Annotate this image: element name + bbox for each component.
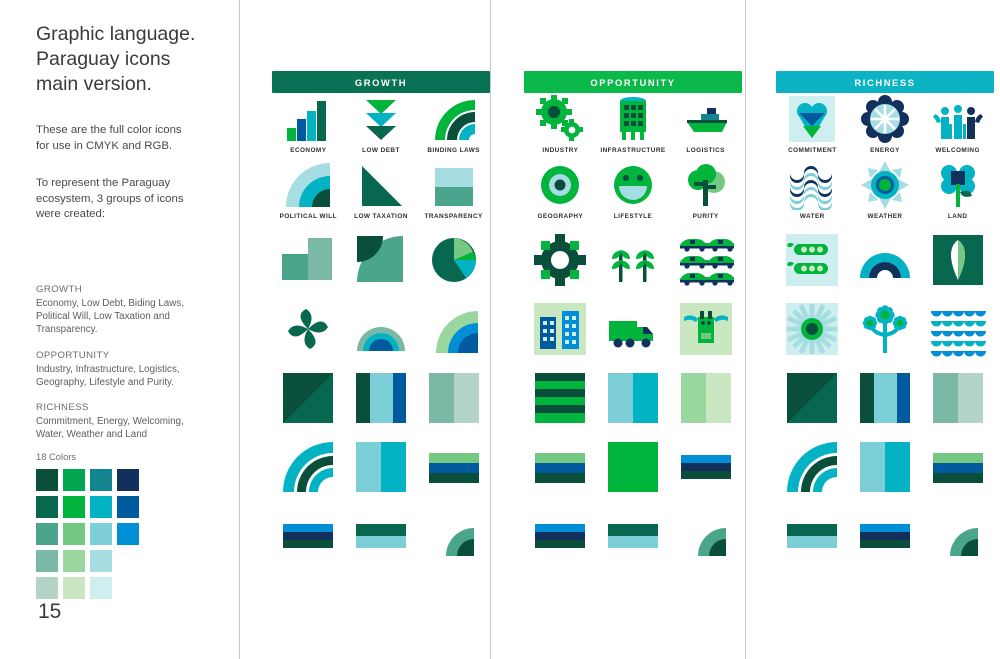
pattern-rainbow-arch[interactable] [849, 225, 922, 294]
column-divider-1 [239, 0, 240, 659]
pattern-quarter-arc-bands[interactable] [417, 294, 490, 363]
icon-label: LOW TAXATION [354, 213, 408, 220]
economy-icon [272, 93, 345, 145]
icon-cell-industry[interactable]: INDUSTRY [524, 93, 597, 159]
weather-icon [849, 159, 922, 211]
group-heading: OPPORTUNITY [36, 350, 231, 361]
icon-cell-lifestyle[interactable]: LIFESTYLE [597, 159, 670, 225]
pattern-striped-square[interactable] [524, 363, 597, 432]
pattern-light-square[interactable] [669, 363, 742, 432]
swatch-row [36, 550, 186, 572]
pattern-square-diagonal[interactable] [776, 363, 849, 432]
icon-grid-opportunity: INDUSTRYINFRASTRUCTURELOGISTICSGEOGRAPHY… [524, 93, 742, 225]
pattern-cow[interactable] [669, 294, 742, 363]
pattern-scale-waves[interactable] [921, 294, 994, 363]
column-divider-2 [490, 0, 491, 659]
welcoming-icon [921, 93, 994, 145]
color-swatch[interactable] [90, 577, 112, 599]
group-body: Economy, Low Debt, Biding Laws, Politica… [36, 297, 231, 337]
pattern-grid-growth [272, 225, 490, 570]
icon-label: POLITICAL WILL [280, 213, 337, 220]
pattern-banded-rect[interactable] [272, 501, 345, 570]
column-header-growth: GROWTH [272, 71, 490, 93]
pattern-pea-pods[interactable] [776, 225, 849, 294]
icon-label: PURITY [693, 213, 719, 220]
icon-label: BINDING LAWS [427, 147, 480, 154]
icon-cell-logistics[interactable]: LOGISTICS [669, 93, 742, 159]
color-swatch[interactable] [36, 550, 58, 572]
pattern-grid-opportunity [524, 225, 742, 570]
color-swatch[interactable] [117, 469, 139, 491]
infrastructure-icon [597, 93, 670, 145]
icon-label: TRANSPARENCY [425, 213, 483, 220]
column-growth: GROWTH ECONOMYLOW DEBTBINDING LAWSPOLITI… [272, 0, 490, 570]
pattern-banded-rect[interactable] [524, 501, 597, 570]
icon-label: LAND [948, 213, 968, 220]
color-swatch[interactable] [36, 523, 58, 545]
color-swatch[interactable] [90, 469, 112, 491]
column-richness: RICHNESS COMMITMENTENERGYWELCOMINGWATERW… [776, 0, 994, 570]
icon-grid-growth: ECONOMYLOW DEBTBINDING LAWSPOLITICAL WIL… [272, 93, 490, 225]
water-icon [776, 159, 849, 211]
pattern-horizontal-bands[interactable] [524, 432, 597, 501]
swatch-grid [36, 469, 186, 599]
icon-grid-richness: COMMITMENTENERGYWELCOMINGWATERWEATHERLAN… [776, 93, 994, 225]
icon-label: LOW DEBT [362, 147, 400, 154]
color-swatch[interactable] [90, 523, 112, 545]
pattern-quarter-arc-outline[interactable] [776, 432, 849, 501]
icon-label: GEOGRAPHY [538, 213, 584, 220]
icon-cell-economy[interactable]: ECONOMY [272, 93, 345, 159]
icon-cell-infrastructure[interactable]: INFRASTRUCTURE [597, 93, 670, 159]
icon-label: INDUSTRY [542, 147, 578, 154]
color-swatch[interactable] [63, 496, 85, 518]
pattern-split-square[interactable] [345, 432, 418, 501]
group-body: Industry, Infrastructure, Logistics, Geo… [36, 363, 231, 389]
color-swatch[interactable] [36, 496, 58, 518]
pattern-leaf[interactable] [921, 225, 994, 294]
color-swatch[interactable] [63, 523, 85, 545]
low-debt-icon [345, 93, 418, 145]
group-heading: RICHNESS [36, 402, 231, 413]
pattern-truck[interactable] [597, 294, 670, 363]
pattern-two-tone-rect[interactable] [597, 501, 670, 570]
pattern-sunburst[interactable] [776, 294, 849, 363]
palette-title: 18 Colors [36, 451, 186, 462]
icon-cell-transparency[interactable]: TRANSPARENCY [417, 159, 490, 225]
swatch-row [36, 496, 186, 518]
pattern-cars[interactable] [669, 225, 742, 294]
lifestyle-icon [597, 159, 670, 211]
group-body: Commitment, Energy, Welcoming, Water, We… [36, 415, 231, 441]
pattern-pie-chart[interactable] [417, 225, 490, 294]
pattern-gear[interactable] [524, 225, 597, 294]
geography-icon [524, 159, 597, 211]
column-header-richness: RICHNESS [776, 71, 994, 93]
pattern-banded-rect-light[interactable] [776, 501, 849, 570]
low-taxation-icon [345, 159, 418, 211]
purity-icon [669, 159, 742, 211]
color-swatch[interactable] [117, 523, 139, 545]
icon-label: COMMITMENT [788, 147, 837, 154]
icon-cell-commitment[interactable]: COMMITMENT [776, 93, 849, 159]
icon-cell-energy[interactable]: ENERGY [849, 93, 922, 159]
pattern-two-tone-square[interactable] [921, 363, 994, 432]
pattern-banded-rect[interactable] [849, 501, 922, 570]
icon-label: WATER [800, 213, 825, 220]
land-icon [921, 159, 994, 211]
color-swatch[interactable] [63, 469, 85, 491]
color-swatch[interactable] [36, 469, 58, 491]
pattern-wheat[interactable] [597, 225, 670, 294]
swatch-row [36, 523, 186, 545]
icon-cell-land[interactable]: LAND [921, 159, 994, 225]
pattern-flowers[interactable] [849, 294, 922, 363]
pattern-split-square[interactable] [849, 432, 922, 501]
intro-paragraph-2: To represent the Paraguay ecosystem, 3 g… [36, 176, 226, 223]
binding-laws-icon [417, 93, 490, 145]
icon-cell-low-debt[interactable]: LOW DEBT [345, 93, 418, 159]
color-palette: 18 Colors [36, 451, 186, 604]
icon-cell-weather[interactable]: WEATHER [849, 159, 922, 225]
color-swatch[interactable] [90, 496, 112, 518]
icon-label: LIFESTYLE [614, 213, 653, 220]
pattern-banded-rect[interactable] [669, 432, 742, 501]
icon-cell-welcoming[interactable]: WELCOMING [921, 93, 994, 159]
icon-label: ENERGY [870, 147, 900, 154]
pattern-small-quarter-arc[interactable] [921, 501, 994, 570]
logistics-icon [669, 93, 742, 145]
transparency-icon [417, 159, 490, 211]
pattern-two-tone-square[interactable] [417, 363, 490, 432]
icon-label: INFRASTRUCTURE [600, 147, 665, 154]
pattern-vertical-stripes[interactable] [345, 363, 418, 432]
pattern-arch-nested[interactable] [345, 294, 418, 363]
icon-label: WELCOMING [935, 147, 980, 154]
swatch-row [36, 469, 186, 491]
pattern-vertical-stripes[interactable] [849, 363, 922, 432]
pattern-small-quarter-arc[interactable] [669, 501, 742, 570]
energy-icon [849, 93, 922, 145]
swatch-row [36, 577, 186, 599]
color-swatch[interactable] [117, 496, 139, 518]
pattern-small-quarter-arc[interactable] [417, 501, 490, 570]
group-descriptions: GROWTH Economy, Low Debt, Biding Laws, P… [36, 284, 231, 454]
intro-paragraph-1: These are the full color icons for use i… [36, 123, 226, 154]
icon-cell-low-taxation[interactable]: LOW TAXATION [345, 159, 418, 225]
icon-cell-water[interactable]: WATER [776, 159, 849, 225]
industry-icon [524, 93, 597, 145]
icon-label: LOGISTICS [686, 147, 725, 154]
color-swatch[interactable] [36, 577, 58, 599]
pattern-horizontal-bands[interactable] [417, 432, 490, 501]
pattern-green-square[interactable] [597, 432, 670, 501]
pattern-split-square[interactable] [597, 363, 670, 432]
pattern-buildings[interactable] [524, 294, 597, 363]
pattern-horizontal-bands[interactable] [921, 432, 994, 501]
icon-cell-binding-laws[interactable]: BINDING LAWS [417, 93, 490, 159]
pattern-square-diagonal[interactable] [272, 363, 345, 432]
pattern-banded-rect-light[interactable] [345, 501, 418, 570]
swatch-placeholder [117, 577, 139, 599]
group-growth: GROWTH Economy, Low Debt, Biding Laws, P… [36, 284, 231, 337]
group-richness: RICHNESS Commitment, Energy, Welcoming, … [36, 402, 231, 441]
column-header-opportunity: OPPORTUNITY [524, 71, 742, 93]
icon-cell-political-will[interactable]: POLITICAL WILL [272, 159, 345, 225]
design-system-page: Graphic language. Paraguay icons main ve… [0, 0, 1000, 659]
page-number: 15 [38, 600, 61, 624]
group-opportunity: OPPORTUNITY Industry, Infrastructure, Lo… [36, 350, 231, 389]
color-swatch[interactable] [63, 577, 85, 599]
page-title: Graphic language. Paraguay icons main ve… [36, 22, 226, 97]
group-heading: GROWTH [36, 284, 231, 295]
political-will-icon [272, 159, 345, 211]
icon-label: ECONOMY [290, 147, 326, 154]
color-swatch[interactable] [90, 550, 112, 572]
intro-block: Graphic language. Paraguay icons main ve… [36, 22, 226, 245]
pattern-quarter-arc-outline[interactable] [272, 432, 345, 501]
color-swatch[interactable] [63, 550, 85, 572]
icon-label: WEATHER [868, 213, 903, 220]
pattern-quarter-arc-nested[interactable] [345, 225, 418, 294]
column-divider-3 [745, 0, 746, 659]
column-opportunity: OPPORTUNITY INDUSTRYINFRASTRUCTURELOGIST… [524, 0, 742, 570]
icon-cell-purity[interactable]: PURITY [669, 159, 742, 225]
pattern-pinwheel[interactable] [272, 294, 345, 363]
pattern-blocks-step[interactable] [272, 225, 345, 294]
swatch-placeholder [117, 550, 139, 572]
commitment-icon [776, 93, 849, 145]
pattern-grid-richness [776, 225, 994, 570]
icon-cell-geography[interactable]: GEOGRAPHY [524, 159, 597, 225]
